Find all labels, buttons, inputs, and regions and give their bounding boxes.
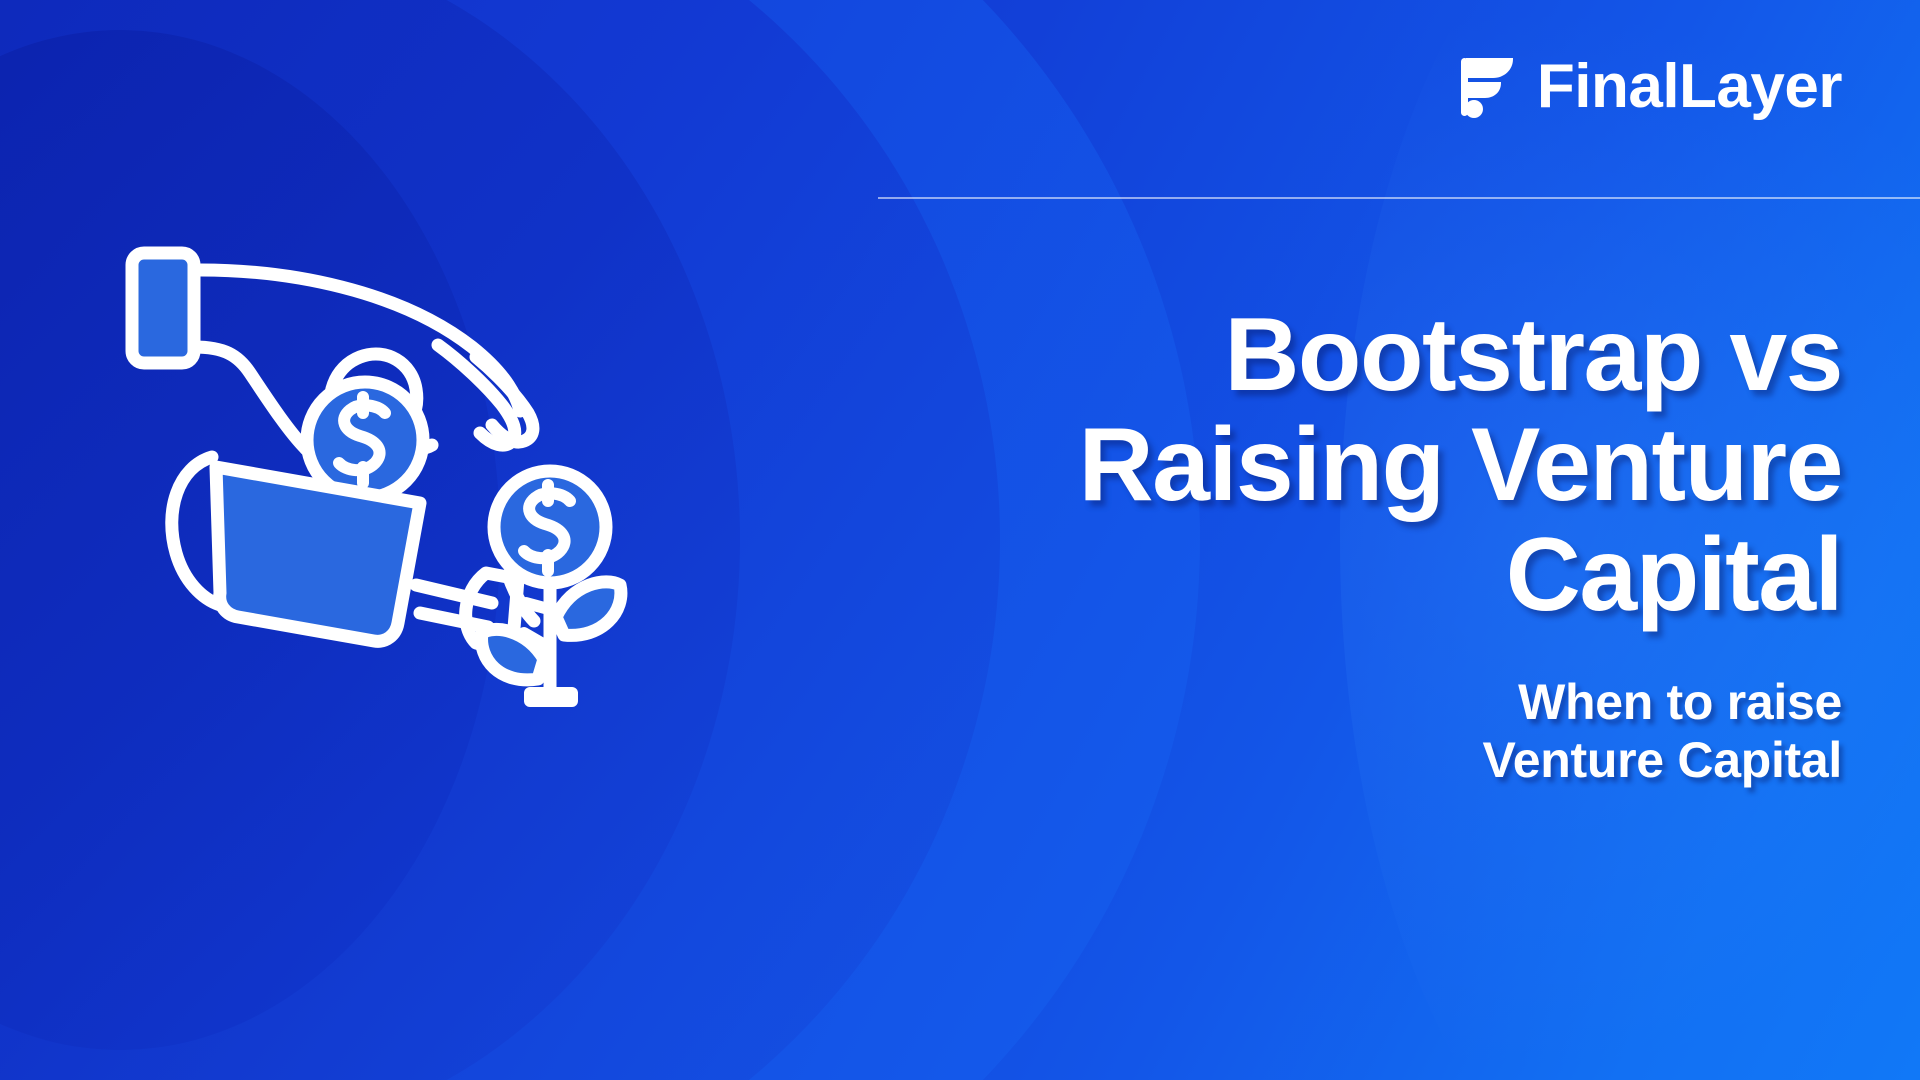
- plant-base-icon: [524, 687, 578, 707]
- brand-name: FinalLayer: [1537, 56, 1842, 118]
- cover-canvas: FinalLayer Bootstrap vs Raising Venture …: [0, 0, 1920, 1080]
- sleeve-cuff-icon: [132, 253, 194, 363]
- page-subtitle: When to raise Venture Capital: [832, 673, 1842, 790]
- page-title: Bootstrap vs Raising Venture Capital: [832, 300, 1842, 631]
- headline-line-1: Bootstrap vs: [832, 300, 1842, 410]
- subhead-line-2: Venture Capital: [832, 731, 1842, 790]
- watering-can-icon: [172, 457, 518, 653]
- finallayer-f-mark-icon: [1457, 56, 1515, 118]
- header-divider: [878, 197, 1920, 199]
- subhead-line-1: When to raise: [832, 673, 1842, 732]
- copy-block: Bootstrap vs Raising Venture Capital Whe…: [832, 300, 1842, 790]
- headline-line-3: Capital: [832, 520, 1842, 630]
- hero-illustration: [120, 235, 650, 725]
- money-plant-icon: [482, 471, 621, 707]
- headline-line-2: Raising Venture: [832, 410, 1842, 520]
- brand-lockup[interactable]: FinalLayer: [1457, 56, 1842, 118]
